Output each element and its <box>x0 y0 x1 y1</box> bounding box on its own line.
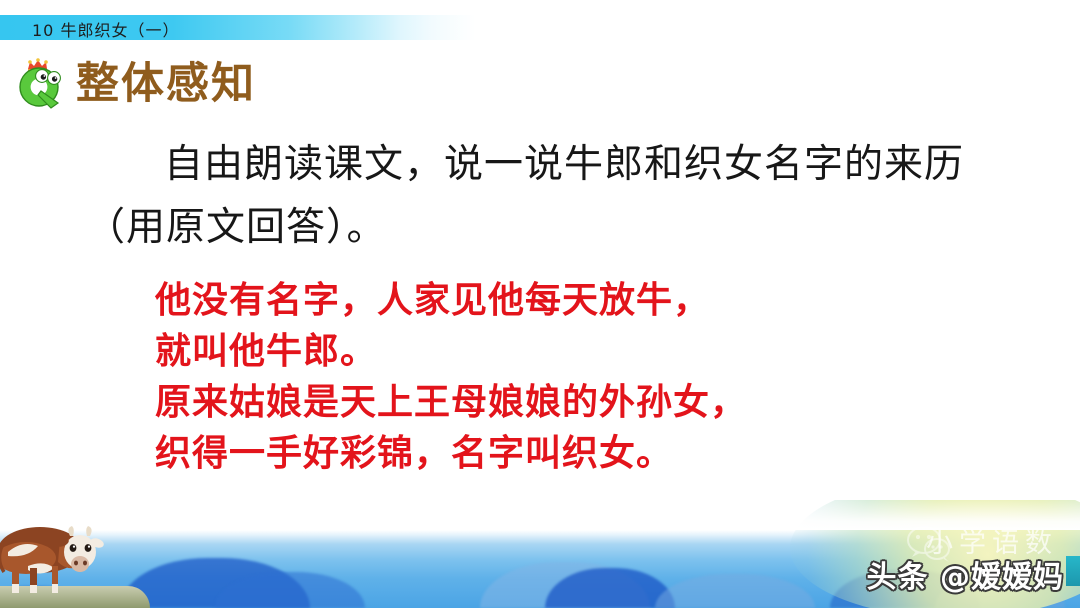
question-line-2: （用原文回答）。 <box>86 196 1016 259</box>
section-heading: 整体感知 <box>14 57 256 111</box>
section-title-text: 整体感知 <box>76 63 256 106</box>
teal-edge-strip <box>1066 556 1080 586</box>
q-mascot-icon <box>14 57 68 111</box>
lesson-header-title: 10 牛郎织女（一） <box>32 17 179 41</box>
question-line-1: 自由朗读课文，说一说牛郎和织女名字的来历 <box>86 133 1016 196</box>
answer-line-2: 就叫他牛郎。 <box>155 326 1035 377</box>
watermark-handle: 头条 @嫒嫒妈 <box>867 552 1064 596</box>
answer-line-4: 织得一手好彩锦，名字叫织女。 <box>155 428 1035 479</box>
cow-illustration <box>0 518 150 596</box>
slide-canvas: 10 牛郎织女（一） <box>0 0 1080 608</box>
answer-line-3: 原来姑娘是天上王母娘娘的外孙女， <box>155 377 1035 428</box>
question-line-1-text: 自由朗读课文，说一说牛郎和织女名字的来历 <box>164 142 964 187</box>
answer-block: 他没有名字，人家见他每天放牛， 就叫他牛郎。 原来姑娘是天上王母娘娘的外孙女， … <box>155 275 1035 479</box>
answer-line-1: 他没有名字，人家见他每天放牛， <box>155 275 1035 326</box>
question-block: 自由朗读课文，说一说牛郎和织女名字的来历 （用原文回答）。 <box>86 133 1016 259</box>
